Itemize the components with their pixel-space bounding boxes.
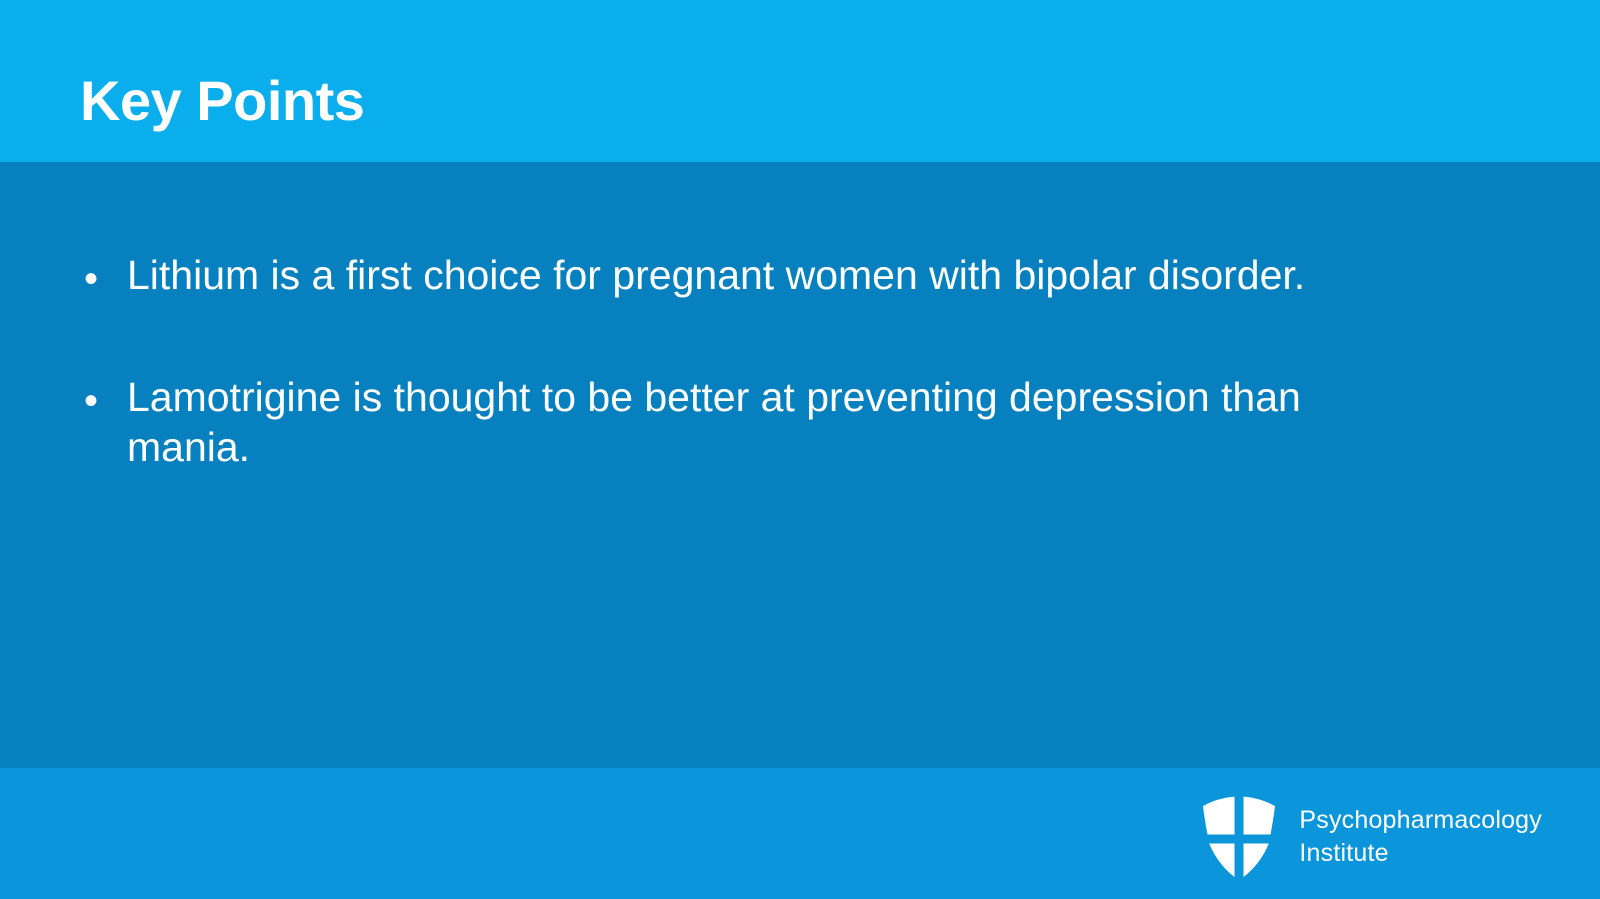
page-title: Key Points <box>80 70 364 132</box>
bullet-list: • Lithium is a first choice for pregnant… <box>80 250 1480 536</box>
bullet-text: Lamotrigine is thought to be better at p… <box>127 372 1307 472</box>
presentation-slide: Key Points • Lithium is a first choice f… <box>0 0 1600 899</box>
shield-logo-icon <box>1201 794 1277 880</box>
brand-name-line-1: Psychopharmacology <box>1299 804 1542 837</box>
list-item: • Lamotrigine is thought to be better at… <box>80 372 1480 472</box>
bullet-text: Lithium is a first choice for pregnant w… <box>127 250 1307 300</box>
brand-lockup: Psychopharmacology Institute <box>1201 794 1542 880</box>
brand-name: Psychopharmacology Institute <box>1299 804 1542 870</box>
list-item: • Lithium is a first choice for pregnant… <box>80 250 1480 308</box>
bullet-point-icon: • <box>80 250 127 308</box>
bullet-point-icon: • <box>80 372 127 430</box>
slide-header-band: Key Points <box>0 0 1600 162</box>
brand-name-line-2: Institute <box>1299 837 1542 870</box>
slide-footer-band: Psychopharmacology Institute <box>0 768 1600 899</box>
slide-body: • Lithium is a first choice for pregnant… <box>0 162 1600 768</box>
